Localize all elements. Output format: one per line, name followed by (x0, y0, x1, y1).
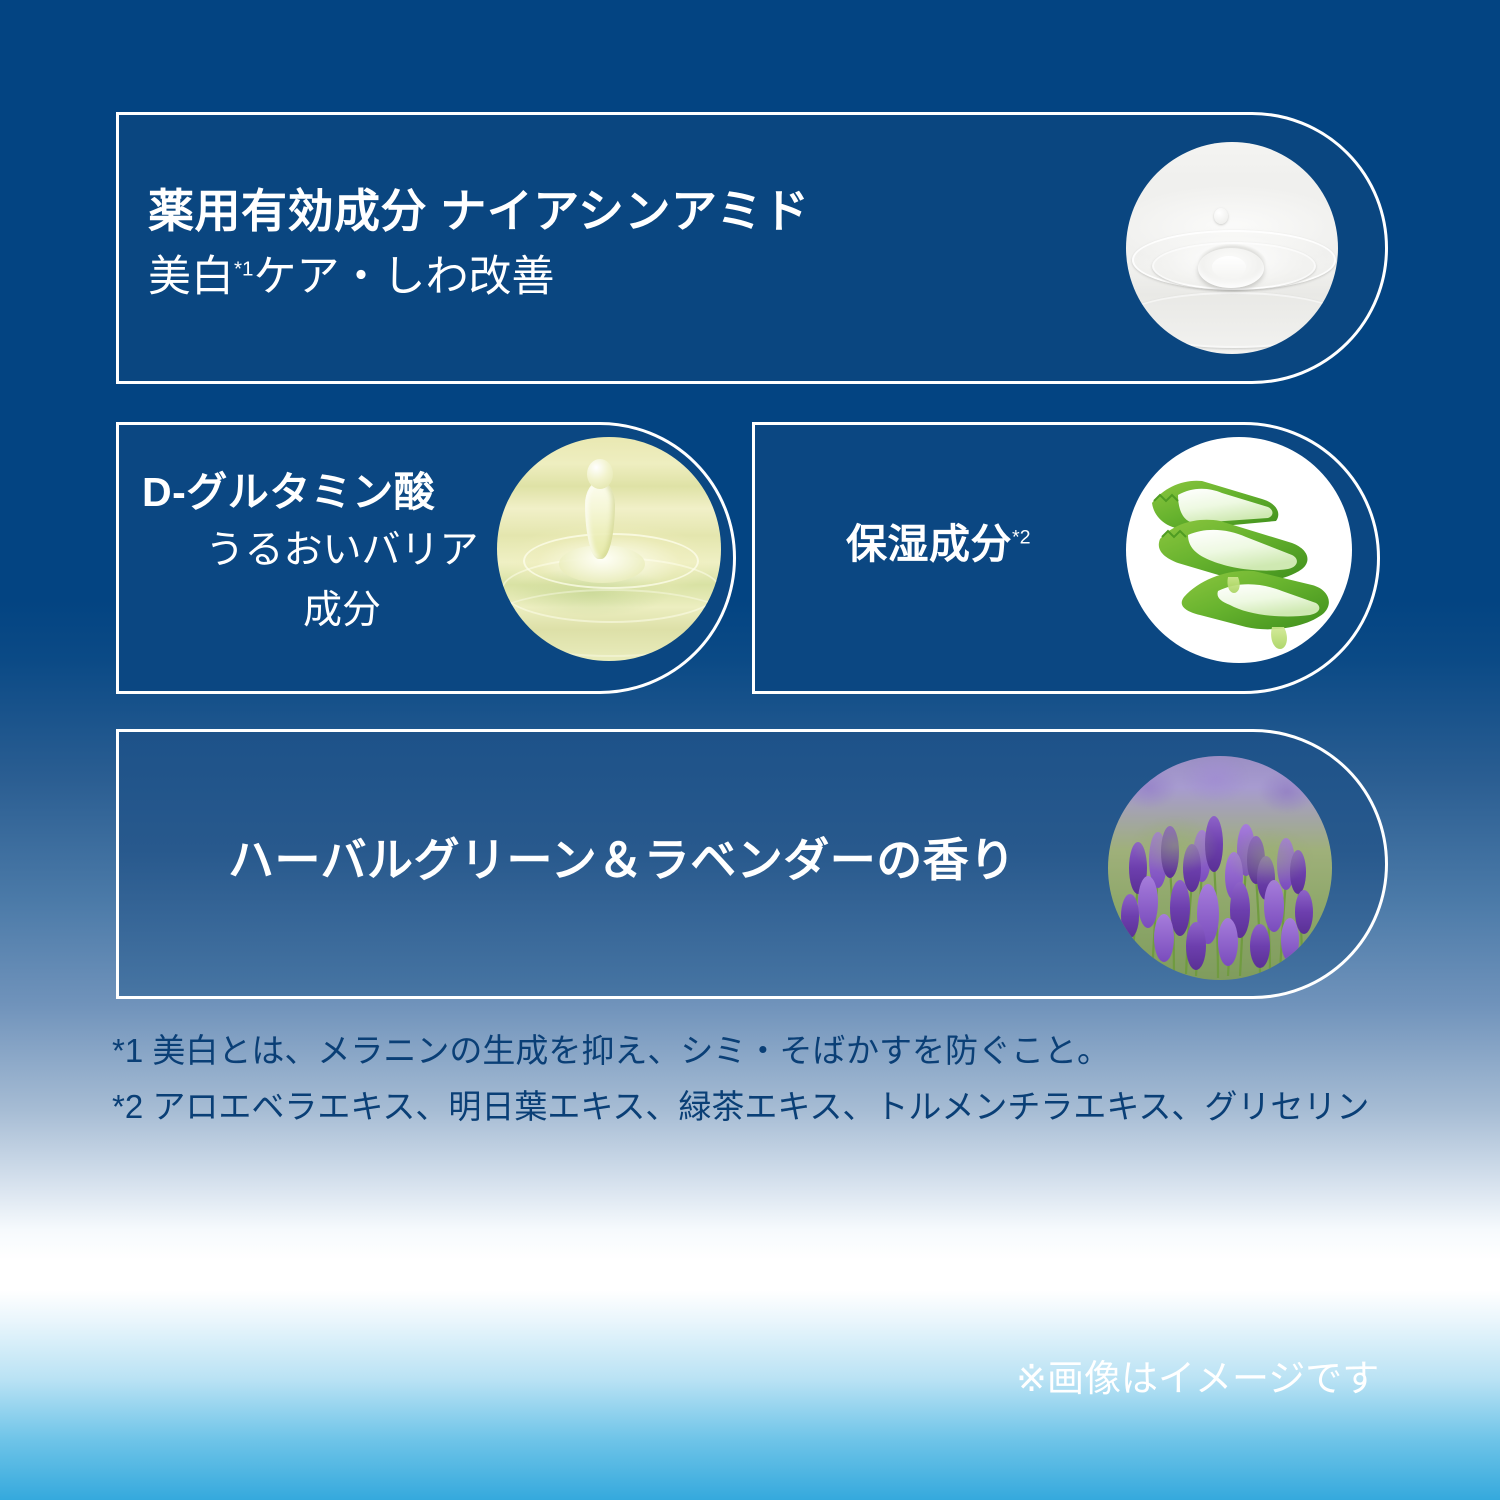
headline-body: 保湿成分 (846, 521, 1012, 567)
panel-fragrance-text: ハーバルグリーン＆ラベンダーの香り (228, 835, 1016, 887)
panel-fragrance-headline: ハーバルグリーン＆ラベンダーの香り (228, 835, 1016, 887)
footnote-1: *1 美白とは、メラニンの生成を抑え、シミ・そばかすを防ぐこと。 (112, 1034, 1110, 1067)
panel-d-glutamic-acid-headline: D-グルタミン酸 (142, 470, 542, 516)
infographic-canvas: 薬用有効成分 ナイアシンアミド 美白*1ケア・しわ改善 D-グルタミン酸 うるお… (0, 0, 1500, 1500)
lavender-background-blur (1108, 756, 1332, 980)
footnote-marker-1: *1 (234, 257, 254, 280)
image-disclaimer: ※画像はイメージです (1016, 1348, 1379, 1402)
panel-d-glutamic-acid-text: D-グルタミン酸 うるおいバリア 成分 (142, 470, 542, 635)
panel-d-glutamic-acid-subline: うるおいバリア (142, 528, 542, 575)
panel-active-ingredient-subline: 美白*1ケア・しわ改善 (148, 252, 810, 304)
panel-moisturizing-ingredient-headline: 保湿成分*2 (846, 522, 1031, 568)
cream-crown-inner (1212, 256, 1246, 278)
panel-active-ingredient-headline: 薬用有効成分 ナイアシンアミド (148, 186, 810, 238)
subline-lead: 美白 (148, 253, 234, 301)
aloe-vera-svg (1126, 437, 1352, 663)
cream-ripple-lower (1126, 292, 1338, 348)
footnote-2: *2 アロエベラエキス、明日葉エキス、緑茶エキス、トルメンチラエキス、グリセリン (112, 1090, 1369, 1123)
cream-swirl-image (1126, 142, 1338, 354)
panel-active-ingredient-text: 薬用有効成分 ナイアシンアミド 美白*1ケア・しわ改善 (148, 186, 810, 303)
panel-moisturizing-ingredient-text: 保湿成分*2 (846, 522, 1031, 568)
droplet-bead (587, 459, 613, 489)
cream-droplet (1214, 208, 1228, 224)
panel-d-glutamic-acid-subline2: 成分 (142, 579, 542, 635)
aloe-vera-image (1126, 437, 1352, 663)
lavender-field-image (1108, 756, 1332, 980)
subline-tail: ケア・しわ改善 (254, 253, 555, 301)
footnote-marker-2: *2 (1012, 526, 1031, 548)
